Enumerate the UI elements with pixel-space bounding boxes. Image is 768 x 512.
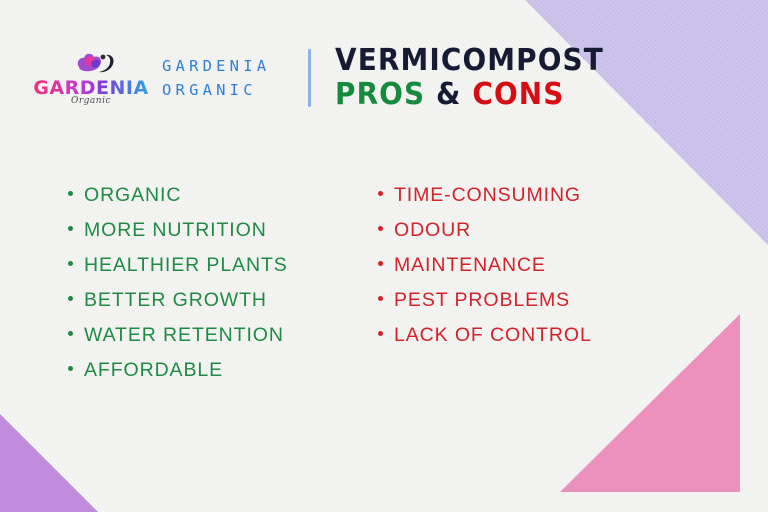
- bullet-icon: [68, 191, 73, 196]
- list-item: MORE NUTRITION: [68, 221, 368, 241]
- list-item-label: TIME-CONSUMING: [394, 186, 581, 206]
- brand-name-line2: ORGANIC: [162, 78, 270, 102]
- list-item: MAINTENANCE: [378, 256, 678, 276]
- list-item-label: ORGANIC: [84, 186, 181, 206]
- logo-script-text: Organic: [71, 96, 111, 106]
- vertical-divider: [308, 49, 311, 107]
- list-item: BETTER GROWTH: [68, 291, 368, 311]
- bullet-icon: [68, 366, 73, 371]
- bottom-left-purple-triangle: [0, 414, 98, 512]
- lists-container: ORGANIC MORE NUTRITION HEALTHIER PLANTS …: [0, 186, 768, 396]
- list-item-label: MORE NUTRITION: [84, 221, 267, 241]
- list-item-label: WATER RETENTION: [84, 326, 284, 346]
- title-word-pros: PROS: [335, 77, 425, 112]
- cons-list: TIME-CONSUMING ODOUR MAINTENANCE PEST PR…: [378, 186, 678, 396]
- list-item-label: PEST PROBLEMS: [394, 291, 570, 311]
- bullet-icon: [378, 191, 383, 196]
- bullet-icon: [68, 261, 73, 266]
- list-item-label: MAINTENANCE: [394, 256, 546, 276]
- list-item: ODOUR: [378, 221, 678, 241]
- list-item: HEALTHIER PLANTS: [68, 256, 368, 276]
- list-item: PEST PROBLEMS: [378, 291, 678, 311]
- list-item: ORGANIC: [68, 186, 368, 206]
- list-item-label: BETTER GROWTH: [84, 291, 267, 311]
- bullet-icon: [68, 296, 73, 301]
- bullet-icon: [378, 261, 383, 266]
- bullet-icon: [378, 226, 383, 231]
- pros-list: ORGANIC MORE NUTRITION HEALTHIER PLANTS …: [68, 186, 368, 396]
- list-item: TIME-CONSUMING: [378, 186, 678, 206]
- bullet-icon: [68, 331, 73, 336]
- brand-logo: GARDENIA Organic: [32, 51, 150, 106]
- gardenia-floral-logo-icon: [73, 51, 119, 81]
- list-item: AFFORDABLE: [68, 361, 368, 381]
- header: GARDENIA Organic GARDENIA ORGANIC VERMIC…: [32, 46, 624, 110]
- title-word-ampersand: &: [436, 77, 461, 112]
- brand-name-line1: GARDENIA: [162, 54, 270, 78]
- title-pros-and-cons: PROS & CONS: [335, 80, 604, 111]
- brand-name: GARDENIA ORGANIC: [162, 54, 270, 102]
- list-item-label: LACK OF CONTROL: [394, 326, 592, 346]
- list-item: LACK OF CONTROL: [378, 326, 678, 346]
- list-item: WATER RETENTION: [68, 326, 368, 346]
- list-item-label: HEALTHIER PLANTS: [84, 256, 288, 276]
- list-item-label: AFFORDABLE: [84, 361, 223, 381]
- infographic-canvas: GARDENIA Organic GARDENIA ORGANIC VERMIC…: [0, 0, 768, 512]
- title-word-cons: CONS: [473, 77, 565, 112]
- title-vermicompost: VERMICOMPOST: [335, 46, 604, 77]
- bullet-icon: [378, 331, 383, 336]
- bullet-icon: [378, 296, 383, 301]
- bullet-icon: [68, 226, 73, 231]
- list-item-label: ODOUR: [394, 221, 471, 241]
- page-title: VERMICOMPOST PROS & CONS: [335, 46, 624, 110]
